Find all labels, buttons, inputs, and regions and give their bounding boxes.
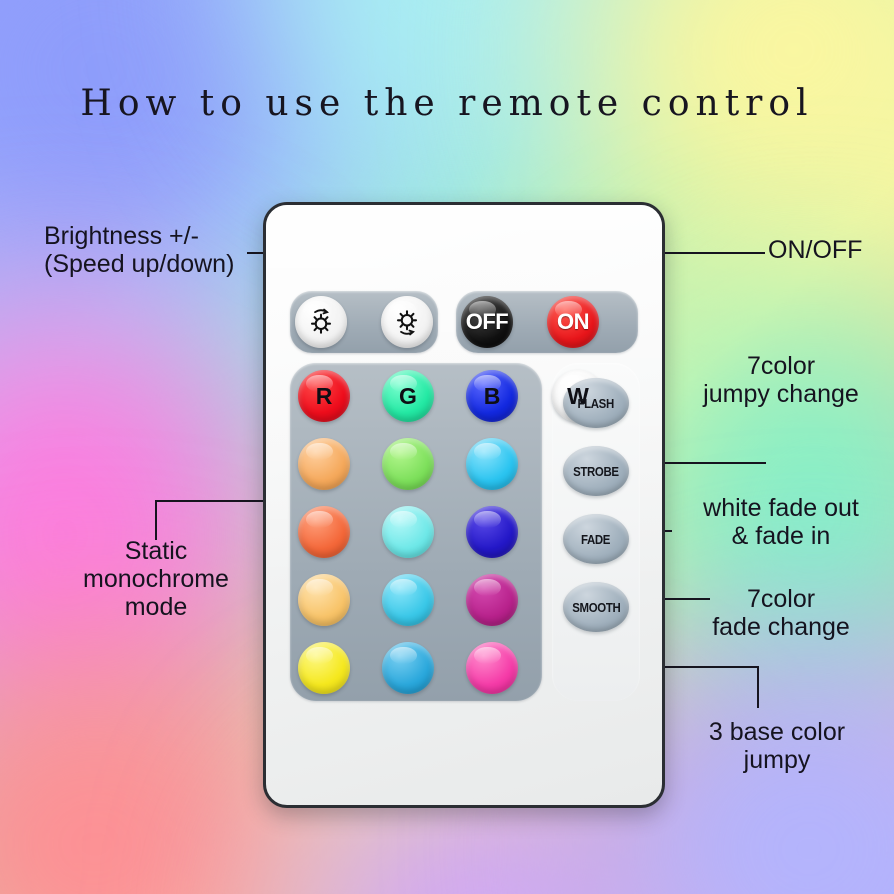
sun-down-icon	[390, 305, 424, 339]
page-title: How to use the remote control	[0, 83, 894, 124]
smooth-button-label: SMOOTH	[572, 601, 620, 614]
infographic-canvas: How to use the remote control	[0, 0, 894, 894]
blue-button[interactable]: B	[466, 370, 518, 422]
red-button-label: R	[316, 385, 333, 408]
brightness-up-button[interactable]	[295, 296, 347, 348]
annotation-three-base-color: 3 base color jumpy	[660, 718, 894, 774]
brightness-down-button[interactable]	[381, 296, 433, 348]
color-cyan-blue-button[interactable]	[466, 438, 518, 490]
red-button[interactable]: R	[298, 370, 350, 422]
sun-up-icon	[304, 305, 338, 339]
green-button-label: G	[399, 385, 417, 408]
leader-smooth-vertical	[757, 666, 759, 708]
fade-button-label: FADE	[581, 533, 610, 546]
strobe-button-label: STROBE	[573, 465, 619, 478]
annotation-seven-color-fade: 7color fade change	[668, 585, 894, 641]
strobe-button[interactable]: STROBE	[563, 446, 629, 496]
flash-button-label: FLASH	[578, 397, 614, 410]
color-orange-button[interactable]	[298, 438, 350, 490]
color-blue-button[interactable]	[382, 642, 434, 694]
off-button-label: OFF	[466, 311, 509, 333]
color-light-cyan-button[interactable]	[382, 506, 434, 558]
annotation-seven-color-jumpy: 7color jumpy change	[668, 352, 894, 408]
annotation-white-fade: white fade out & fade in	[668, 494, 894, 550]
annotation-brightness: Brightness +/- (Speed up/down)	[44, 222, 274, 278]
blue-button-label: B	[484, 385, 501, 408]
color-light-green-button[interactable]	[382, 438, 434, 490]
smooth-button[interactable]: SMOOTH	[563, 582, 629, 632]
off-button[interactable]: OFF	[461, 296, 513, 348]
color-hot-pink-button[interactable]	[466, 642, 518, 694]
color-peach-button[interactable]	[298, 574, 350, 626]
annotation-onoff: ON/OFF	[768, 236, 862, 264]
color-magenta-button[interactable]	[466, 574, 518, 626]
color-yellow-button[interactable]	[298, 642, 350, 694]
color-deep-blue-button[interactable]	[466, 506, 518, 558]
on-button-label: ON	[557, 311, 589, 333]
remote-control-device: OFF ON R G B W	[263, 202, 665, 808]
green-button[interactable]: G	[382, 370, 434, 422]
fade-button[interactable]: FADE	[563, 514, 629, 564]
on-button[interactable]: ON	[547, 296, 599, 348]
annotation-static-mode: Static monochrome mode	[58, 537, 254, 621]
leader-static-vertical	[155, 500, 157, 540]
color-sky-blue-button[interactable]	[382, 574, 434, 626]
color-orange-red-button[interactable]	[298, 506, 350, 558]
